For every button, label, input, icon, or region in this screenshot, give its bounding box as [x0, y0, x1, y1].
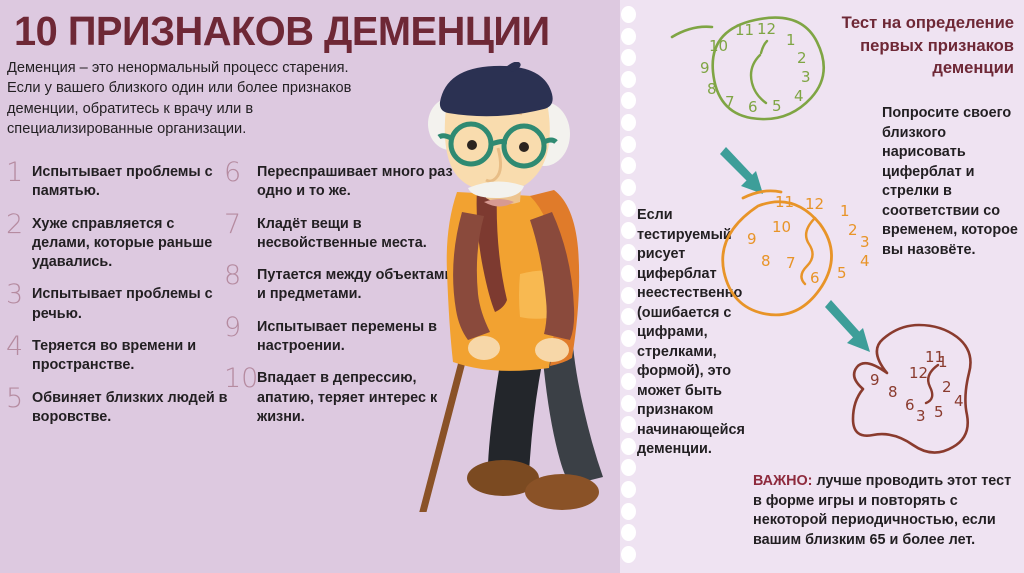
hand-right: [535, 338, 569, 362]
divider-dot: [621, 503, 636, 520]
signs-list-column-1: 1Испытывает проблемы с памятью.2Хуже спр…: [6, 163, 236, 440]
sign-number: 10: [224, 366, 257, 392]
test-title: Тест на определение первых признаков дем…: [784, 12, 1014, 80]
divider-dot: [621, 71, 636, 88]
divider-dot: [621, 308, 636, 325]
leg-front: [542, 346, 603, 485]
divider-dot: [621, 222, 636, 239]
divider-dot: [621, 200, 636, 217]
test-instruction: Попросите своего близкого нарисовать циф…: [882, 104, 1022, 260]
divider-dot: [621, 330, 636, 347]
sign-number: 7: [224, 212, 257, 238]
sign-item-2: 2Хуже справляется с делами, которые рань…: [6, 215, 236, 273]
divider-dot: [621, 352, 636, 369]
sign-text: Хуже справляется с делами, которые раньш…: [32, 215, 236, 273]
sign-number: 9: [224, 315, 257, 341]
divider-dot: [621, 524, 636, 541]
sign-number: 5: [6, 386, 32, 412]
eye-left: [467, 140, 477, 150]
divider-dot: [621, 6, 636, 23]
sign-number: 2: [6, 212, 32, 238]
intro-paragraph: Деменция – это ненормальный процесс стар…: [7, 58, 377, 140]
page-title: 10 ПРИЗНАКОВ ДЕМЕНЦИИ: [14, 8, 557, 54]
sign-text: Испытывает проблемы с речью.: [32, 285, 236, 324]
divider-dot: [621, 373, 636, 390]
sign-text: Теряется во времени и пространстве.: [32, 337, 236, 376]
divider-dot: [621, 265, 636, 282]
divider-dot: [621, 114, 636, 131]
divider-dot: [621, 157, 636, 174]
test-interpretation: Если тестируемый рисует циферблат неесте…: [637, 206, 749, 460]
sign-number: 1: [6, 160, 32, 186]
sign-item-4: 4Теряется во времени и пространстве.: [6, 337, 236, 376]
sign-number: 8: [224, 263, 257, 289]
sign-number: 6: [224, 160, 257, 186]
divider-dot: [621, 287, 636, 304]
sign-number: 4: [6, 334, 32, 360]
infographic-root: 10 ПРИЗНАКОВ ДЕМЕНЦИИ Деменция – это нен…: [0, 0, 1024, 573]
divider-dot: [621, 395, 636, 412]
divider-dot: [621, 459, 636, 476]
eye-right: [519, 142, 529, 152]
sign-item-1: 1Испытывает проблемы с памятью.: [6, 163, 236, 202]
divider-dot: [621, 49, 636, 66]
hand-left: [468, 336, 500, 360]
sign-text: Обвиняет близких людей в воровстве.: [32, 389, 236, 428]
divider-dot: [621, 546, 636, 563]
divider-dot: [621, 244, 636, 261]
divider-dot: [621, 481, 636, 498]
divider-dot: [621, 416, 636, 433]
shoe-front: [525, 474, 599, 510]
sign-item-5: 5Обвиняет близких людей в воровстве.: [6, 389, 236, 428]
sign-text: Испытывает проблемы с памятью.: [32, 163, 236, 202]
divider-dot: [621, 136, 636, 153]
divider-dot: [621, 28, 636, 45]
divider-dot: [621, 92, 636, 109]
beret: [440, 66, 553, 116]
divider-dot: [621, 179, 636, 196]
important-note: ВАЖНО: лучше проводить этот тест в форме…: [753, 472, 1021, 550]
sign-number: 3: [6, 282, 32, 308]
divider-dot: [621, 438, 636, 455]
elderly-man-illustration: [402, 62, 622, 512]
important-label: ВАЖНО:: [753, 473, 812, 489]
sign-item-3: 3Испытывает проблемы с речью.: [6, 285, 236, 324]
